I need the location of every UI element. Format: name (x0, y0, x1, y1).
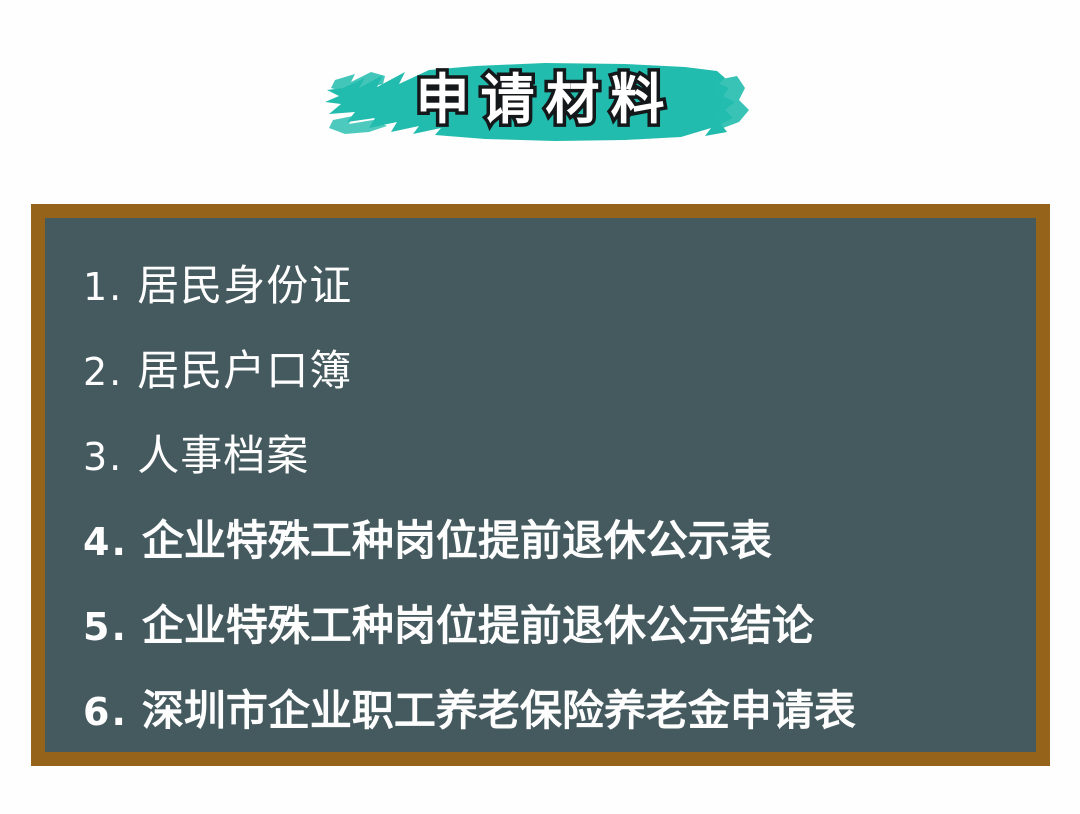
page-title: 申请材料 (0, 40, 1080, 160)
banner: 申请材料 (0, 40, 1080, 160)
list-item: 2. 居民户口簿 (83, 337, 1008, 422)
list-item-number: 2. (83, 350, 123, 394)
list-item-number: 1. (83, 265, 123, 309)
list-item-label: 深圳市企业职工养老保险养老金申请表 (142, 677, 856, 738)
materials-list: 1. 居民身份证 2. 居民户口簿 3. 人事档案 4. 企业特殊工种岗位提前退… (83, 252, 1008, 762)
list-item: 5. 企业特殊工种岗位提前退休公示结论 (83, 592, 1008, 677)
list-item-label: 人事档案 (137, 422, 309, 483)
list-item-number: 5. (83, 605, 128, 649)
materials-panel: 1. 居民身份证 2. 居民户口簿 3. 人事档案 4. 企业特殊工种岗位提前退… (31, 204, 1050, 766)
list-item-label: 居民户口簿 (137, 337, 352, 398)
list-item: 1. 居民身份证 (83, 252, 1008, 337)
list-item-number: 4. (83, 520, 128, 564)
list-item: 3. 人事档案 (83, 422, 1008, 507)
materials-panel-body: 1. 居民身份证 2. 居民户口簿 3. 人事档案 4. 企业特殊工种岗位提前退… (45, 218, 1036, 752)
list-item-number: 6. (83, 690, 128, 734)
list-item-label: 企业特殊工种岗位提前退休公示结论 (142, 592, 814, 653)
list-item-number: 3. (83, 435, 123, 479)
list-item-label: 企业特殊工种岗位提前退休公示表 (142, 507, 772, 568)
list-item: 4. 企业特殊工种岗位提前退休公示表 (83, 507, 1008, 592)
list-item-label: 居民身份证 (137, 252, 352, 313)
list-item: 6. 深圳市企业职工养老保险养老金申请表 (83, 677, 1008, 762)
page-root: 申请材料 1. 居民身份证 2. 居民户口簿 3. 人事档案 4. (0, 0, 1080, 814)
